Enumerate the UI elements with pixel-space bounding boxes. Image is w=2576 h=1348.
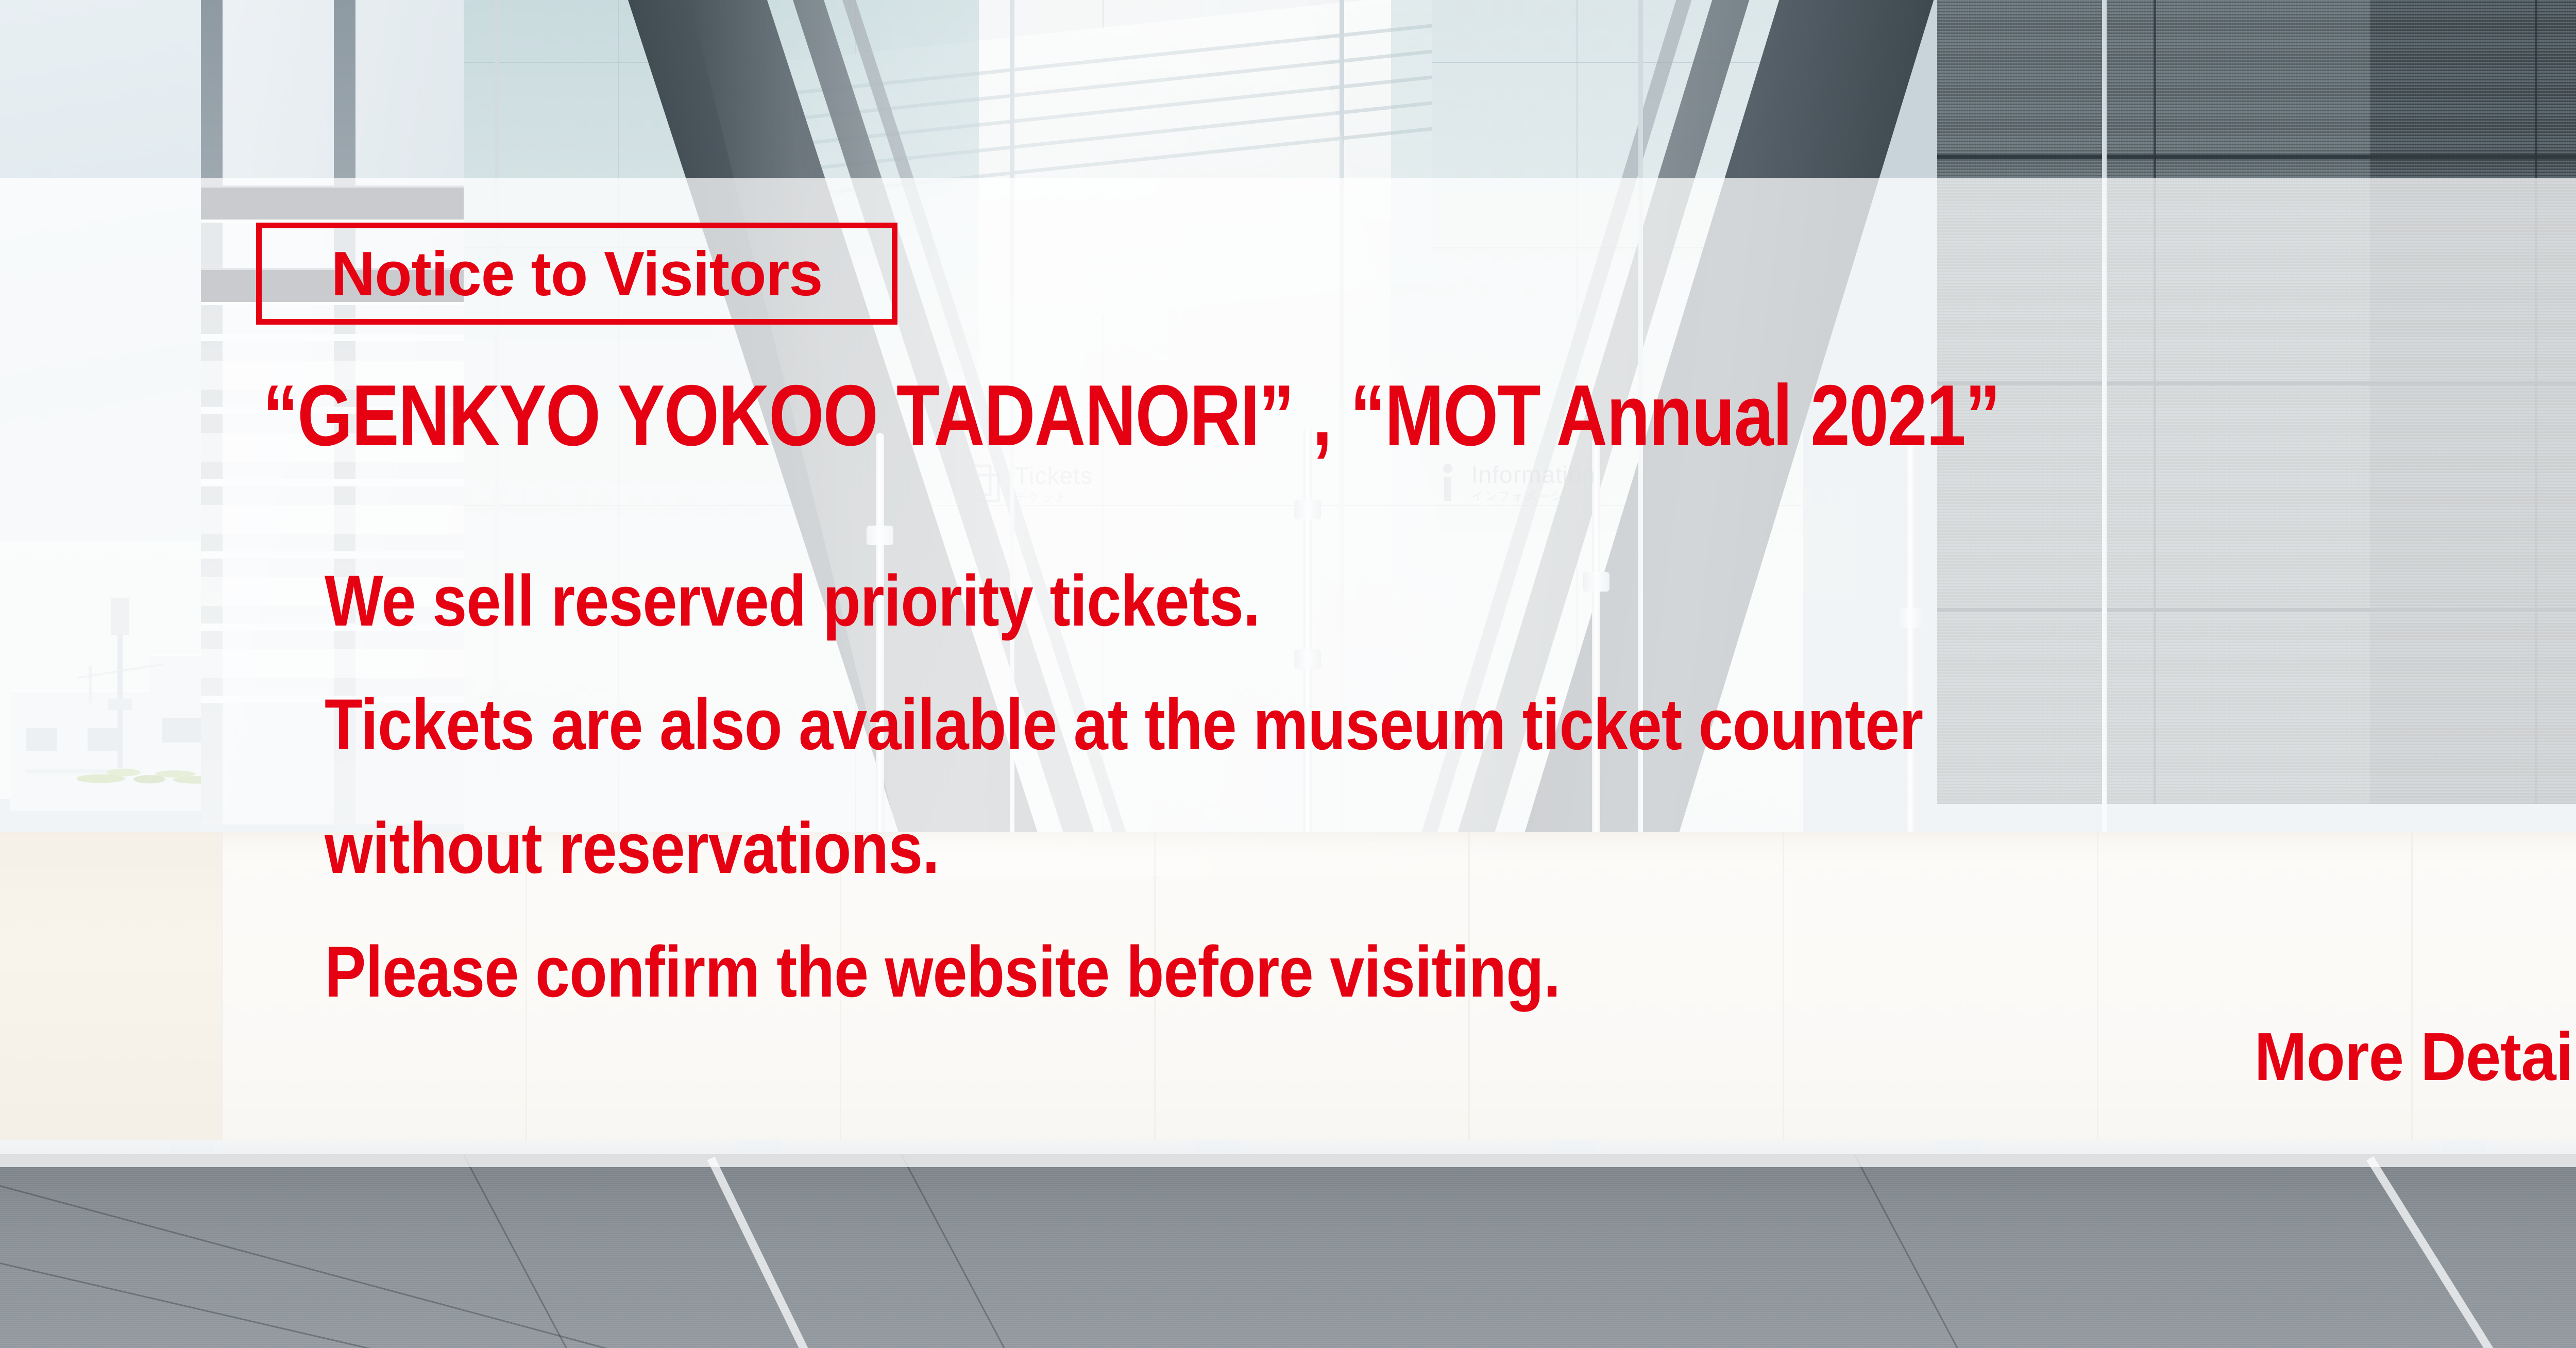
more-details-label: More Details [2251, 1023, 2576, 1106]
notice-body-line: Please confirm the website before visiti… [325, 910, 1923, 1034]
more-details-link[interactable]: More Details [2223, 1023, 2576, 1106]
notice-body-line: Tickets are also available at the museum… [325, 663, 1923, 786]
notice-body-line: without reservations. [325, 786, 1923, 910]
notice-content: Notice to Visitors “GENKYO YOKOO TADANOR… [0, 0, 2576, 1348]
notice-label-text: Notice to Visitors [331, 242, 823, 305]
notice-body: We sell reserved priority tickets. Ticke… [325, 539, 2183, 1034]
notice-banner: Tickets チケット Information インフォメーション [0, 0, 2576, 1348]
notice-label-box: Notice to Visitors [256, 223, 897, 325]
notice-body-line: We sell reserved priority tickets. [325, 539, 1923, 663]
exhibition-headline: “GENKYO YOKOO TADANORI” , “MOT Annual 20… [263, 372, 1999, 459]
